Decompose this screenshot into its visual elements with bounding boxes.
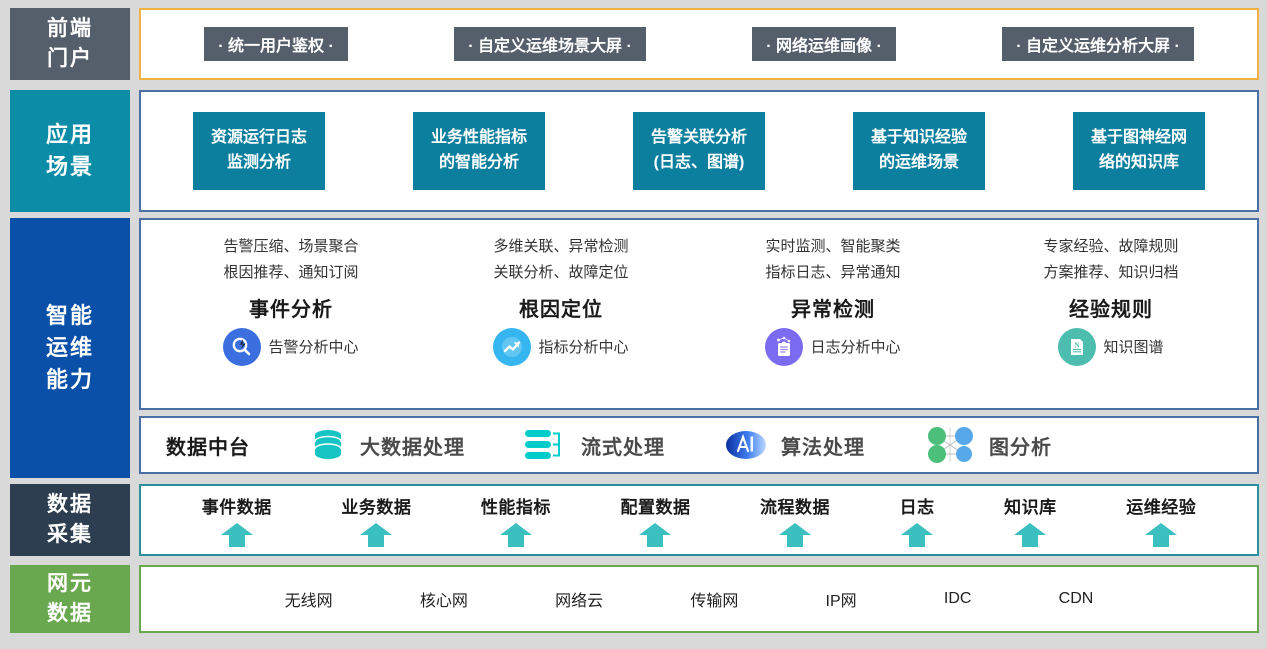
arrow-up-icon	[900, 522, 934, 548]
app-chip-line-1: 资源运行日志	[211, 126, 307, 151]
log-analysis-icon	[765, 328, 803, 366]
app-chip-line-1: 告警关联分析	[651, 126, 747, 151]
metric-analysis-icon	[493, 328, 531, 366]
collection-item-knowledge-base[interactable]: 知识库	[1004, 493, 1057, 548]
network-element-panel: 无线网 核心网 网络云 传输网 IP网 IDC CDN	[139, 565, 1259, 633]
collection-item-business-data[interactable]: 业务数据	[341, 493, 411, 548]
arrow-up-icon	[359, 522, 393, 548]
arrow-up-icon	[499, 522, 533, 548]
capability-title: 根因定位	[519, 293, 603, 322]
app-chip-line-2: 的智能分析	[439, 151, 519, 176]
alert-analysis-icon	[223, 328, 261, 366]
app-chip-line-2: 络的知识库	[1099, 151, 1179, 176]
data-middle-platform-heading: 数据中台	[166, 431, 286, 460]
row-label-collection: 数据 采集	[10, 484, 130, 556]
capability-product[interactable]: N 知识图谱	[1058, 328, 1163, 366]
collection-item-logs[interactable]: 日志	[900, 493, 935, 548]
capability-title: 异常检测	[791, 293, 875, 322]
row-label-capability: 智能 运维 能力	[10, 218, 130, 478]
row-label-portal-line-2: 门户	[47, 44, 93, 74]
platform-item-label: 算法处理	[781, 431, 865, 460]
row-label-network-line-1: 网元	[47, 569, 93, 599]
row-label-collection-line-1: 数据	[47, 490, 93, 520]
app-chip-resource-log[interactable]: 资源运行日志 监测分析	[193, 112, 325, 190]
platform-item-algorithm[interactable]: 算法处理	[723, 425, 865, 465]
collection-item-label: 运维经验	[1126, 493, 1196, 518]
platform-item-label: 图分析	[989, 431, 1052, 460]
capability-desc-line-1: 专家经验、故障规则	[1043, 234, 1178, 260]
capability-desc-line-2: 根因推荐、通知订阅	[223, 260, 358, 286]
collection-item-process-data[interactable]: 流程数据	[760, 493, 830, 548]
portal-chip-unified-auth[interactable]: · 统一用户鉴权 ·	[204, 27, 348, 61]
platform-item-bigdata[interactable]: 大数据处理	[308, 427, 465, 463]
app-chip-line-2: 的运维场景	[879, 151, 959, 176]
platform-item-label: 大数据处理	[360, 431, 465, 460]
app-chip-line-2: 监测分析	[227, 151, 291, 176]
row-label-application: 应用 场景	[10, 90, 130, 212]
row-label-application-line-2: 场景	[46, 151, 94, 183]
network-item-core[interactable]: 核心网	[420, 587, 468, 611]
collection-item-label: 配置数据	[620, 493, 690, 518]
application-panel: 资源运行日志 监测分析 业务性能指标 的智能分析 告警关联分析 (日志、图谱) …	[139, 90, 1259, 212]
capability-desc-line-1: 告警压缩、场景聚合	[223, 234, 358, 260]
portal-panel: · 统一用户鉴权 · · 自定义运维场景大屏 · · 网络运维画像 · · 自定…	[139, 8, 1259, 80]
app-chip-line-2: (日志、图谱)	[654, 151, 745, 176]
row-label-capability-line-3: 能力	[46, 364, 94, 396]
app-chip-line-1: 基于知识经验	[871, 126, 967, 151]
collection-item-label: 流程数据	[760, 493, 830, 518]
capability-desc-line-2: 指标日志、异常通知	[765, 260, 900, 286]
app-chip-business-kpi[interactable]: 业务性能指标 的智能分析	[413, 112, 545, 190]
capability-product-label: 日志分析中心	[810, 336, 900, 357]
collection-item-event-data[interactable]: 事件数据	[202, 493, 272, 548]
portal-chip-custom-ops-dashboard[interactable]: · 自定义运维场景大屏 ·	[454, 27, 646, 61]
collection-item-label: 日志	[900, 493, 935, 518]
portal-chip-custom-analysis-dashboard[interactable]: · 自定义运维分析大屏 ·	[1002, 27, 1194, 61]
app-chip-line-1: 业务性能指标	[431, 126, 527, 151]
platform-item-stream[interactable]: 流式处理	[523, 425, 665, 465]
network-item-ip[interactable]: IP网	[826, 587, 857, 611]
platform-item-graph[interactable]: 图分析	[923, 423, 1052, 467]
row-label-portal: 前端 门户	[10, 8, 130, 80]
collection-item-label: 业务数据	[341, 493, 411, 518]
capability-product-label: 知识图谱	[1103, 336, 1163, 357]
arrow-up-icon	[778, 522, 812, 548]
capability-product-label: 指标分析中心	[538, 336, 628, 357]
capability-desc-line-2: 关联分析、故障定位	[493, 260, 628, 286]
arrow-up-icon	[1013, 522, 1047, 548]
collection-item-label: 事件数据	[202, 493, 272, 518]
collection-item-config-data[interactable]: 配置数据	[620, 493, 690, 548]
capability-title: 事件分析	[249, 293, 333, 322]
row-label-collection-line-2: 采集	[47, 520, 93, 550]
collection-item-label: 性能指标	[481, 493, 551, 518]
portal-chip-network-ops-profile[interactable]: · 网络运维画像 ·	[752, 27, 896, 61]
network-item-cdn[interactable]: CDN	[1059, 590, 1094, 608]
network-item-wireless[interactable]: 无线网	[285, 587, 333, 611]
network-item-cloud[interactable]: 网络云	[555, 587, 603, 611]
capability-product[interactable]: 指标分析中心	[493, 328, 628, 366]
data-middle-platform-panel: 数据中台 大数据处理	[139, 416, 1259, 474]
row-label-network-line-2: 数据	[47, 599, 93, 629]
arrow-up-icon	[638, 522, 672, 548]
row-label-portal-line-1: 前端	[47, 14, 93, 44]
capability-desc-line-1: 多维关联、异常检测	[493, 234, 628, 260]
capability-title: 经验规则	[1069, 293, 1153, 322]
app-chip-knowledge-experience[interactable]: 基于知识经验 的运维场景	[853, 112, 985, 190]
row-label-application-line-1: 应用	[46, 119, 94, 151]
network-item-idc[interactable]: IDC	[944, 590, 972, 608]
stream-icon	[523, 425, 569, 465]
knowledge-graph-icon: N	[1058, 328, 1096, 366]
capability-product[interactable]: 告警分析中心	[223, 328, 358, 366]
capability-desc-line-2: 方案推荐、知识归档	[1043, 260, 1178, 286]
capability-column-event-analysis: 告警压缩、场景聚合 根因推荐、通知订阅 事件分析 告警分析中心	[171, 220, 411, 408]
data-collection-panel: 事件数据 业务数据 性能指标 配置数据 流程数据 日志 知识库 运维经验	[139, 484, 1259, 556]
capability-product-label: 告警分析中心	[268, 336, 358, 357]
capability-column-root-cause: 多维关联、异常检测 关联分析、故障定位 根因定位 指标分析中心	[441, 220, 681, 408]
row-label-capability-line-1: 智能	[46, 300, 94, 332]
ai-icon	[723, 425, 769, 465]
capability-column-anomaly-detection: 实时监测、智能聚类 指标日志、异常通知 异常检测 日志分析中心	[713, 220, 953, 408]
row-label-capability-line-2: 运维	[46, 332, 94, 364]
database-icon	[308, 427, 348, 463]
app-chip-line-1: 基于图神经网	[1091, 126, 1187, 151]
collection-item-performance-kpi[interactable]: 性能指标	[481, 493, 551, 548]
row-label-network: 网元 数据	[10, 565, 130, 633]
platform-item-label: 流式处理	[581, 431, 665, 460]
arrow-up-icon	[1144, 522, 1178, 548]
svg-text:N: N	[1075, 340, 1081, 349]
collection-item-label: 知识库	[1004, 493, 1057, 518]
capability-product[interactable]: 日志分析中心	[765, 328, 900, 366]
app-chip-alarm-correlation[interactable]: 告警关联分析 (日志、图谱)	[633, 112, 765, 190]
capability-panel: 告警压缩、场景聚合 根因推荐、通知订阅 事件分析 告警分析中心 多维关联、异常检…	[139, 218, 1259, 410]
graph-network-icon	[923, 423, 977, 467]
capability-desc-line-1: 实时监测、智能聚类	[765, 234, 900, 260]
arrow-up-icon	[220, 522, 254, 548]
network-item-transport[interactable]: 传输网	[690, 587, 738, 611]
capability-column-experience-rules: 专家经验、故障规则 方案推荐、知识归档 经验规则 N 知识图谱	[991, 220, 1231, 408]
collection-item-ops-experience[interactable]: 运维经验	[1126, 493, 1196, 548]
app-chip-gnn-knowledge-base[interactable]: 基于图神经网 络的知识库	[1073, 112, 1205, 190]
